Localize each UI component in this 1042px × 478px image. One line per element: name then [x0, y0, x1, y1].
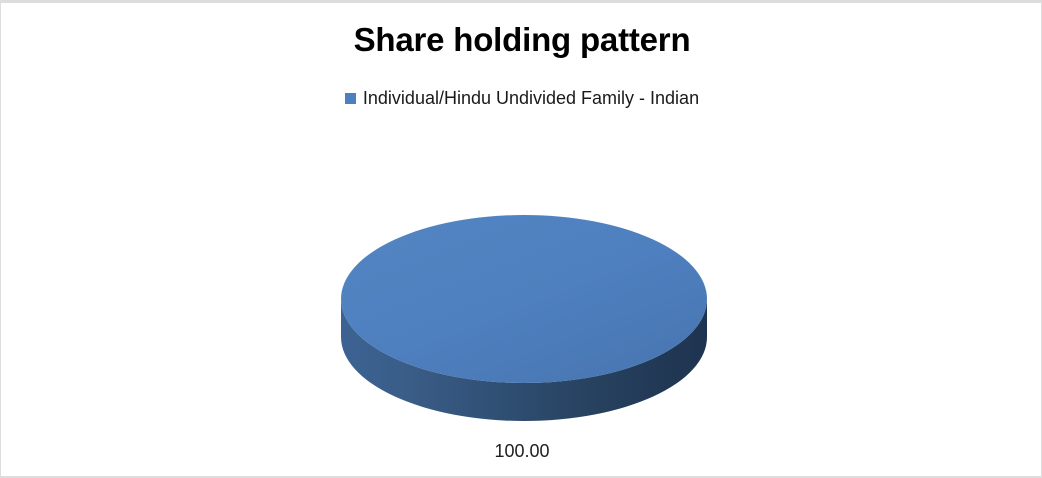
legend-item-label: Individual/Hindu Undivided Family - Indi…	[363, 87, 699, 109]
pie-data-label: 100.00	[1, 440, 1042, 462]
chart-canvas: Share holding pattern Individual/Hindu U…	[0, 0, 1042, 478]
chart-legend: Individual/Hindu Undivided Family - Indi…	[1, 87, 1042, 109]
pie-slice-individual-hindu-undivided-family-indian[interactable]	[341, 215, 707, 421]
pie-chart-graphic	[341, 215, 707, 421]
square-swatch-icon	[345, 93, 356, 104]
chart-title: Share holding pattern	[1, 19, 1042, 61]
legend-item-individual-hindu-undivided-family-indian[interactable]: Individual/Hindu Undivided Family - Indi…	[345, 87, 699, 109]
pie-top-face	[341, 215, 707, 383]
